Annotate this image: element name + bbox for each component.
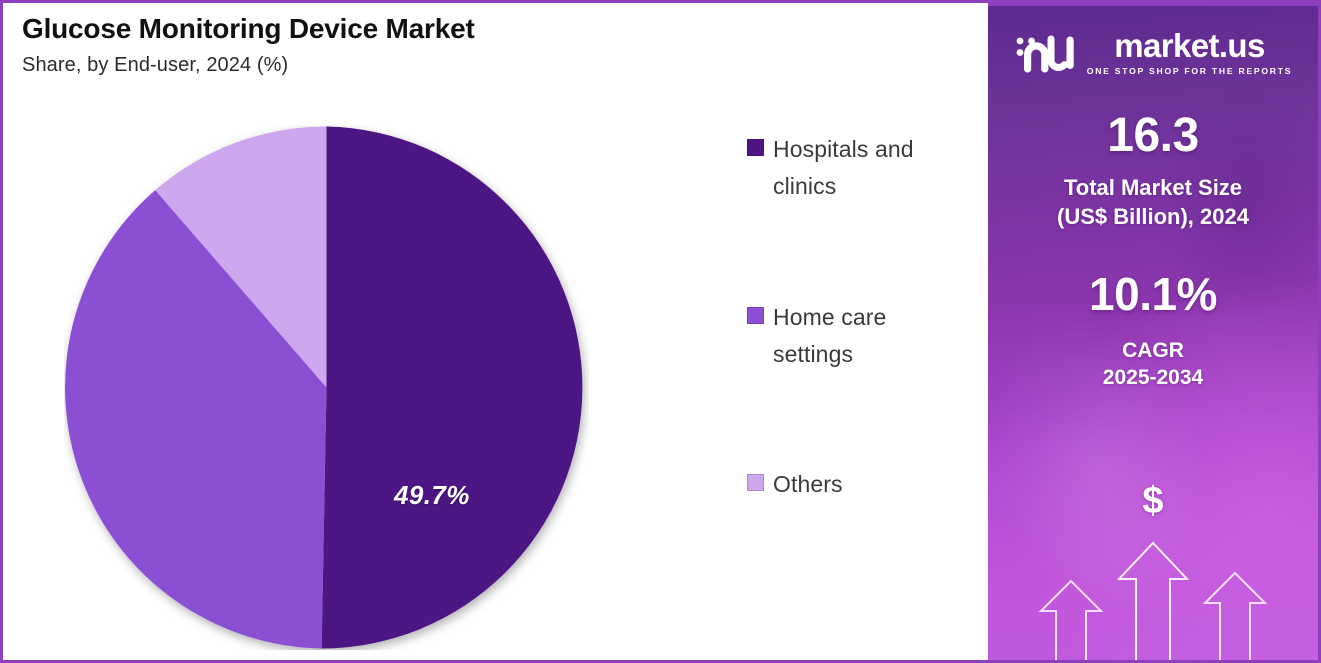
stat-caption-line-1: CAGR: [988, 337, 1318, 364]
legend-item-hospitals-and-clinics[interactable]: Hospitals and clinics: [747, 131, 962, 206]
arrow-up-left-icon: [1041, 581, 1101, 663]
title-block: Glucose Monitoring Device Market Share, …: [22, 12, 922, 77]
arrows-svg: [1023, 523, 1283, 663]
legend-swatch-icon: [747, 474, 764, 491]
legend-swatch-icon: [747, 139, 764, 156]
growth-arrows-decoration: $: [988, 478, 1318, 663]
brand-logo[interactable]: market.us ONE STOP SHOP FOR THE REPORTS: [988, 28, 1318, 76]
arrow-up-center-icon: [1119, 543, 1187, 663]
brand-text: market.us ONE STOP SHOP FOR THE REPORTS: [1087, 29, 1292, 76]
legend-item-others[interactable]: Others: [747, 466, 962, 503]
stat-value-cagr: 10.1%: [988, 271, 1318, 317]
market-us-logo-icon: [1014, 28, 1076, 76]
stat-caption-market-size: Total Market Size (US$ Billion), 2024: [988, 174, 1318, 231]
pie-chart-svg: [64, 125, 589, 650]
stat-block-cagr: 10.1% CAGR 2025-2034: [988, 271, 1318, 392]
stat-value-market-size: 16.3: [988, 112, 1318, 160]
page-subtitle: Share, by End-user, 2024 (%): [22, 54, 922, 77]
brand-name: market.us: [1114, 29, 1265, 62]
stat-caption-line-2: 2025-2034: [988, 364, 1318, 391]
stat-caption-line-2: (US$ Billion), 2024: [988, 203, 1318, 232]
stats-panel: market.us ONE STOP SHOP FOR THE REPORTS …: [988, 3, 1321, 663]
pie-slice-group: [65, 126, 582, 648]
legend-label: Home care settings: [773, 299, 962, 374]
stat-block-market-size: 16.3 Total Market Size (US$ Billion), 20…: [988, 112, 1318, 231]
dollar-icon: $: [988, 482, 1318, 520]
infographic-root: Glucose Monitoring Device Market Share, …: [0, 0, 1321, 663]
legend-label: Hospitals and clinics: [773, 131, 962, 206]
pie-slice-hospitals-and-clinics[interactable]: [322, 127, 583, 649]
pie-chart: 49.7%: [64, 125, 589, 650]
pie-data-label: 49.7%: [394, 480, 470, 511]
stat-caption-cagr: CAGR 2025-2034: [988, 337, 1318, 392]
legend-label: Others: [773, 466, 843, 503]
brand-tagline: ONE STOP SHOP FOR THE REPORTS: [1087, 66, 1292, 76]
arrow-up-right-icon: [1205, 573, 1265, 663]
stat-caption-line-1: Total Market Size: [988, 174, 1318, 203]
legend-swatch-icon: [747, 307, 764, 324]
chart-panel: Glucose Monitoring Device Market Share, …: [3, 3, 991, 660]
chart-legend: Hospitals and clinics Home care settings…: [747, 131, 962, 503]
page-title: Glucose Monitoring Device Market: [22, 12, 922, 45]
legend-item-home-care-settings[interactable]: Home care settings: [747, 299, 962, 374]
